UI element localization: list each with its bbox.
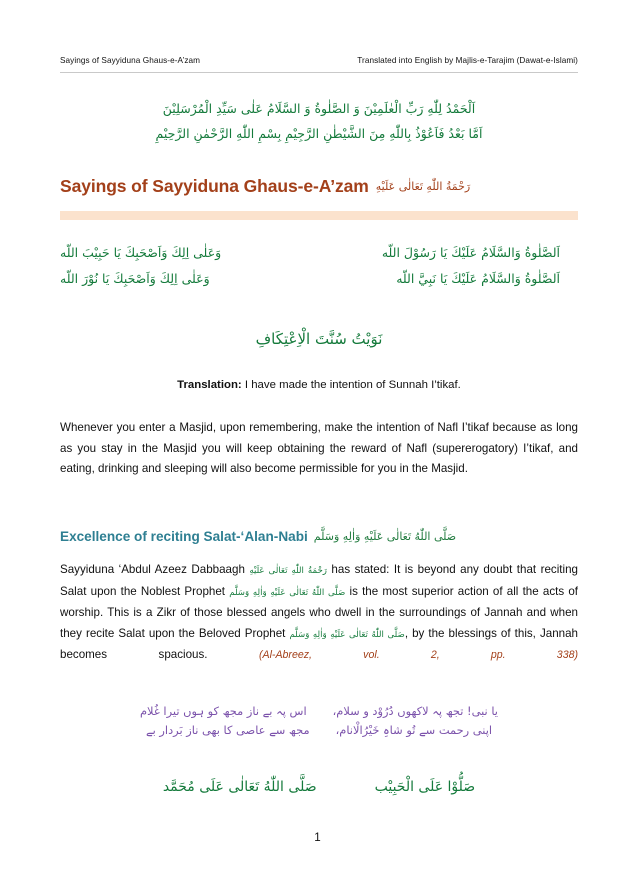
taawwuz-bismillah-line: اَمَّا بَعْدُ فَاَعُوْذُ بِاللّٰهِ مِنَ … bbox=[60, 121, 578, 146]
section-heading-text: Excellence of reciting Salat-‘Alan-Nabi bbox=[60, 529, 308, 544]
header-right-text: Translated into English by Majlis-e-Tara… bbox=[357, 56, 578, 65]
urdu-couplet-2-left: مجھ سے عاصی کا بھی ناز بَردار بے bbox=[146, 723, 310, 737]
translation-text: I have made the intention of Sunnah I’ti… bbox=[242, 379, 461, 391]
closing-right-line: صَلُّوْا عَلَى الْحَبِيْب bbox=[375, 779, 476, 795]
urdu-couplet-row: مجھ سے عاصی کا بھی ناز بَردار بے اپنی رح… bbox=[60, 723, 578, 737]
page-title-honorific: رَحْمَةُ اللّٰهِ تَعَالٰى عَلَيْهِ bbox=[376, 180, 470, 193]
urdu-couplet-block: اس پہ بے ناز مجھ کو ہوں تیرا غُلام یا نب… bbox=[60, 704, 578, 742]
paragraph-itikaf: Whenever you enter a Masjid, upon rememb… bbox=[60, 418, 578, 480]
document-page: Sayings of Sayyiduna Ghaus-e-A’zam Trans… bbox=[0, 0, 635, 894]
salat-couplet-1-left: وَعَلٰى اِلِكَ وَاَصْحَبِكَ يَا حَبِيْبَ… bbox=[60, 245, 221, 260]
page-title: Sayings of Sayyiduna Ghaus-e-A’zam رَحْم… bbox=[60, 176, 578, 197]
salat-couplet-1-right: اَلصَّلٰوةُ وَالسَّلَامُ عَلَيْكَ يَا رَ… bbox=[382, 245, 578, 260]
closing-invocation-block: صَلَّى اللّٰهُ تَعَالٰى عَلَى مُحَمَّد ص… bbox=[60, 779, 578, 795]
section-heading-honorific: صَلَّى اللّٰهُ تَعَالٰى عَلَيْهِ وَاٰلِه… bbox=[314, 530, 456, 543]
honorific-sallallahu-1-icon: صَلَّى اللّٰهُ تَعَالٰى عَلَيْهِ وَاٰلِه… bbox=[229, 588, 345, 598]
urdu-couplet-row: اس پہ بے ناز مجھ کو ہوں تیرا غُلام یا نب… bbox=[60, 704, 578, 718]
hamdala-line: اَلْحَمْدُ لِلّٰهِ رَبِّ الْعٰلَمِيْنَ و… bbox=[60, 96, 578, 121]
salat-couplet-row: وَعَلٰى اِلِكَ وَاَصْحَبِكَ يَا حَبِيْبَ… bbox=[60, 245, 578, 260]
niyyah-arabic-line: نَوَيْتُ سُنَّتَ الْاِعْتِكَافِ bbox=[60, 330, 578, 348]
salat-couplet-row: وَعَلٰى اِلِكَ وَاَصْحَبِكَ يَا نُوْرَ ا… bbox=[60, 271, 578, 286]
page-title-text: Sayings of Sayyiduna Ghaus-e-A’zam bbox=[60, 176, 369, 197]
honorific-rahmatullah-icon: رَحْمَةُ اللّٰهِ تَعَالٰى عَلَيْهِ bbox=[249, 566, 327, 576]
salat-couplet-block: وَعَلٰى اِلِكَ وَاَصْحَبِكَ يَا حَبِيْبَ… bbox=[60, 245, 578, 297]
closing-left-line: صَلَّى اللّٰهُ تَعَالٰى عَلَى مُحَمَّد bbox=[163, 779, 317, 795]
title-accent-band bbox=[60, 211, 578, 220]
header-divider-rule bbox=[60, 72, 578, 73]
urdu-couplet-1-left: اس پہ بے ناز مجھ کو ہوں تیرا غُلام bbox=[140, 704, 307, 718]
header-left-text: Sayings of Sayyiduna Ghaus-e-A’zam bbox=[60, 56, 200, 65]
salat-couplet-2-right: اَلصَّلٰوةُ وَالسَّلَامُ عَلَيْكَ يَا نَ… bbox=[396, 271, 578, 286]
translation-line: Translation: I have made the intention o… bbox=[60, 379, 578, 391]
honorific-sallallahu-2-icon: صَلَّى اللّٰهُ تَعَالٰى عَلَيْهِ وَاٰلِه… bbox=[289, 630, 404, 640]
translation-label: Translation: bbox=[177, 379, 242, 391]
urdu-couplet-1-right: یا نبی! تجھ پہ لاکھوں دُرُوْد و سلام، bbox=[333, 704, 498, 718]
page-number: 1 bbox=[0, 831, 635, 844]
paragraph-excellence: Sayyiduna ‘Abdul Azeez Dabbaagh رَحْمَةُ… bbox=[60, 560, 578, 686]
urdu-couplet-2-right: اپنی رحمت سے تُو شاہِ خَیْرُالْانام، bbox=[336, 723, 492, 737]
citation-al-abreez: (Al-Abreez, vol. 2, pp. 338) bbox=[259, 649, 578, 661]
opening-invocation-block: اَلْحَمْدُ لِلّٰهِ رَبِّ الْعٰلَمِيْنَ و… bbox=[60, 96, 578, 146]
excellence-segment-1: Sayyiduna ‘Abdul Azeez Dabbaagh bbox=[60, 563, 249, 576]
section-heading-excellence: Excellence of reciting Salat-‘Alan-Nabi … bbox=[60, 529, 578, 544]
salat-couplet-2-left: وَعَلٰى اِلِكَ وَاَصْحَبِكَ يَا نُوْرَ ا… bbox=[60, 271, 210, 286]
running-header: Sayings of Sayyiduna Ghaus-e-A’zam Trans… bbox=[60, 56, 578, 65]
